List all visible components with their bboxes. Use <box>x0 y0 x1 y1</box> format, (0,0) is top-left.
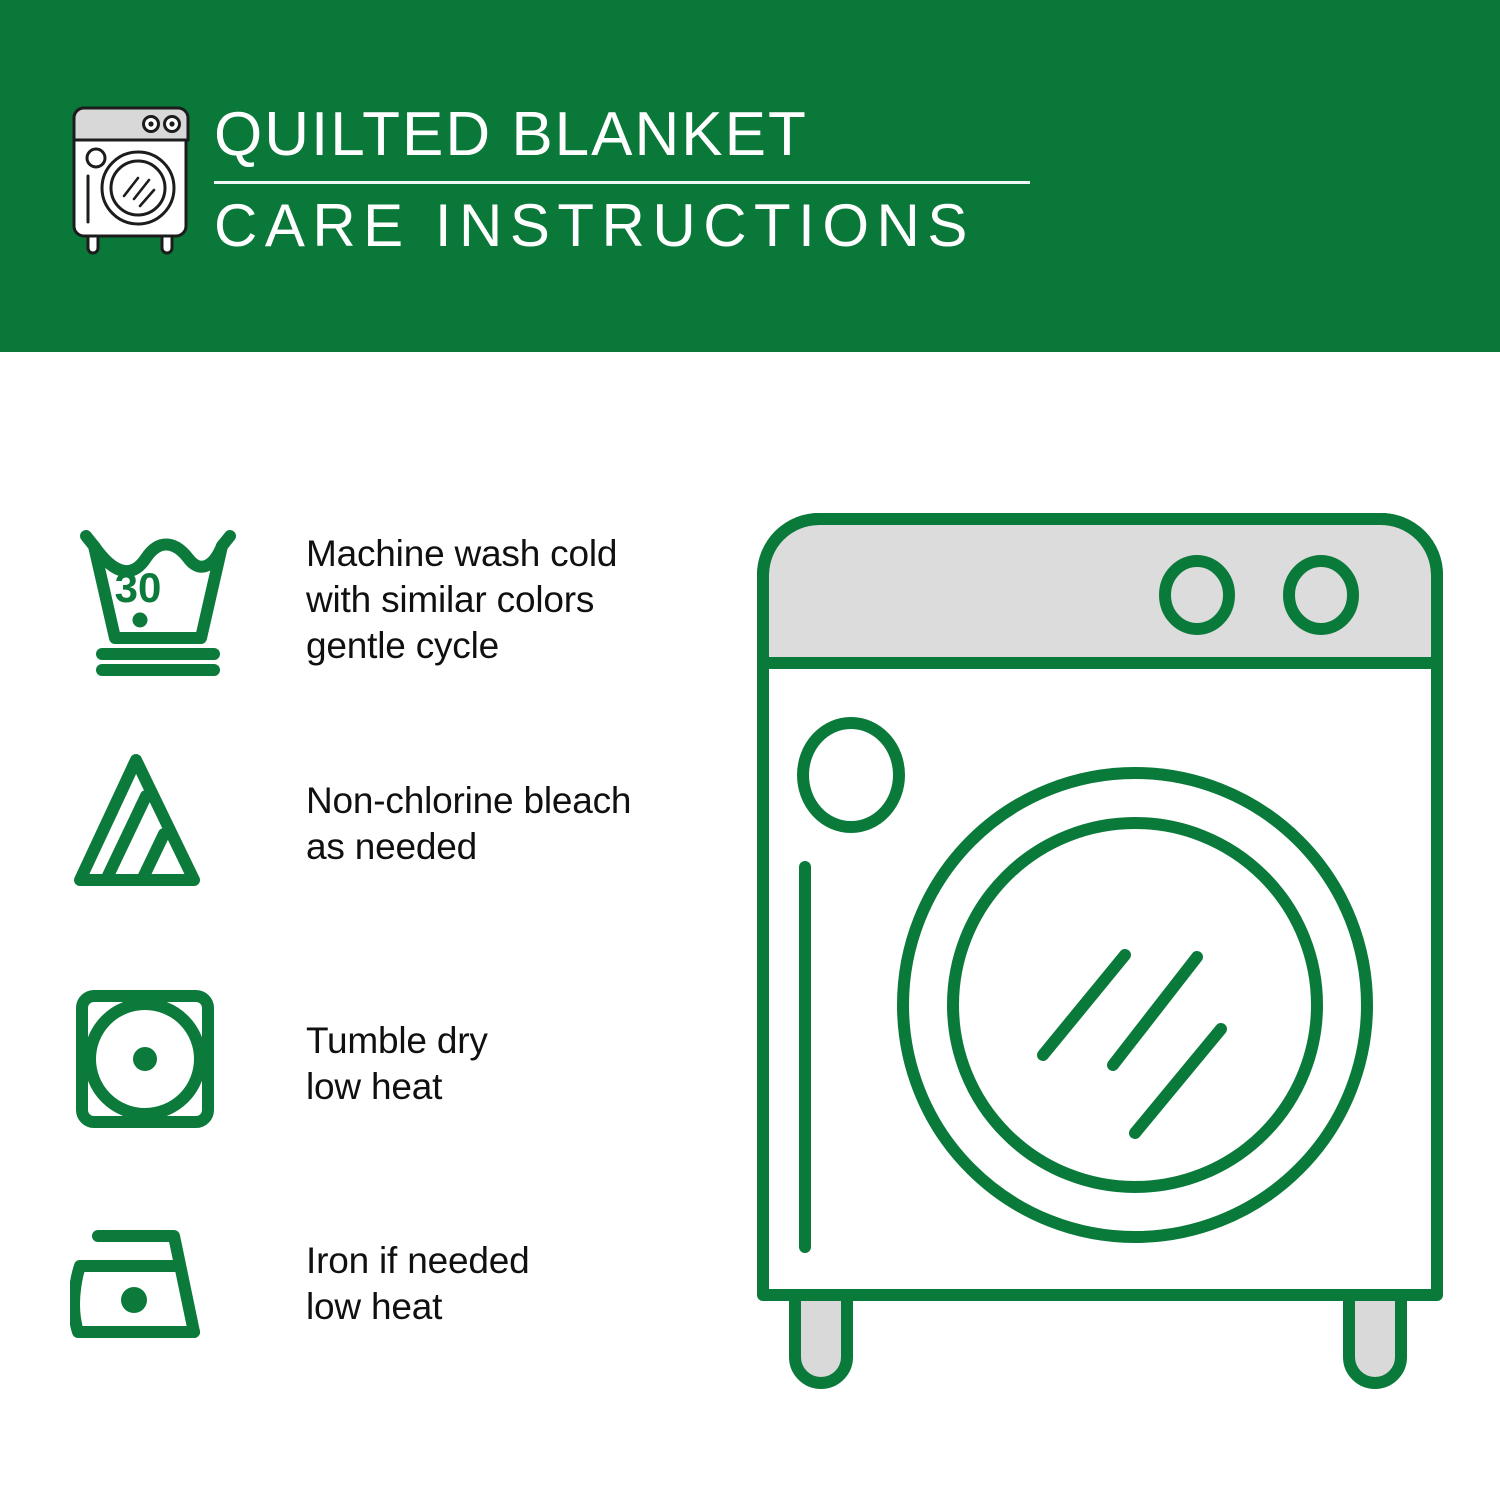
knob-left <box>1165 561 1229 629</box>
header-banner: QUILTED BLANKET CARE INSTRUCTIONS <box>0 0 1500 352</box>
iron-low-heat-icon <box>70 1204 246 1364</box>
tumble-dry-low-heat-icon <box>70 984 246 1144</box>
non-chlorine-bleach-triangle-icon <box>70 744 246 904</box>
wash-temp-label: 30 <box>115 564 162 611</box>
door-outer-ring <box>903 773 1367 1237</box>
care-text-iron: Iron if needed low heat <box>306 1238 529 1330</box>
care-row-iron: Iron if needed low heat <box>70 1204 529 1364</box>
care-instruction-list: 30 Machine wash cold with similar colors… <box>0 352 720 1500</box>
care-text-bleach: Non-chlorine bleach as needed <box>306 778 631 870</box>
care-text-wash: Machine wash cold with similar colors ge… <box>306 531 617 669</box>
page-subtitle: CARE INSTRUCTIONS <box>214 194 1030 257</box>
door-slash-3 <box>1135 1029 1221 1133</box>
detergent-button <box>803 723 899 827</box>
knob-right <box>1289 561 1353 629</box>
care-instructions-page: QUILTED BLANKET CARE INSTRUCTIONS <box>0 0 1500 1500</box>
page-title: QUILTED BLANKET <box>214 102 1030 167</box>
wash-tub-30-gentle-icon: 30 <box>70 520 246 680</box>
leg-left <box>795 1295 847 1383</box>
header-content: QUILTED BLANKET CARE INSTRUCTIONS <box>66 96 1030 257</box>
title-block: QUILTED BLANKET CARE INSTRUCTIONS <box>214 96 1030 257</box>
door-slash-2 <box>1113 957 1197 1065</box>
care-row-bleach: Non-chlorine bleach as needed <box>70 744 631 904</box>
care-text-tumble-dry: Tumble dry low heat <box>306 1018 488 1110</box>
door-slash-1 <box>1043 955 1125 1055</box>
washing-machine-icon <box>66 96 196 256</box>
leg-right <box>1349 1295 1401 1383</box>
title-divider <box>214 181 1030 184</box>
care-row-tumble-dry: Tumble dry low heat <box>70 984 488 1144</box>
care-row-wash: 30 Machine wash cold with similar colors… <box>70 520 617 680</box>
front-load-washing-machine-illustration <box>745 495 1455 1415</box>
